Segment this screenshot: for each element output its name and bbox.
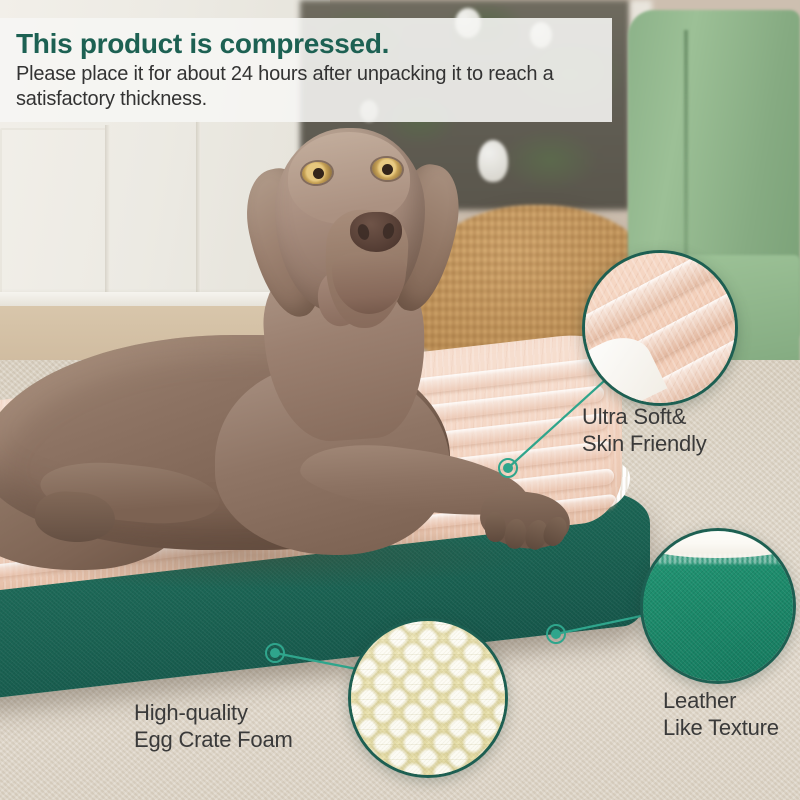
banner-subtext: Please place it for about 24 hours after… bbox=[16, 62, 612, 112]
foam-grain bbox=[351, 621, 505, 775]
callout-inset-egg-crate-foam[interactable] bbox=[348, 618, 508, 778]
compressed-notice-banner: This product is compressed. Please place… bbox=[0, 18, 612, 122]
product-image: Ultra Soft& Skin Friendly High-quality E… bbox=[0, 0, 800, 800]
callout-label-ultra-soft: Ultra Soft& Skin Friendly bbox=[582, 404, 707, 458]
callout-inset-leather-like-texture[interactable] bbox=[640, 528, 796, 684]
connector-marker-dot bbox=[503, 463, 513, 473]
connector-marker-dot bbox=[551, 629, 561, 639]
leather-trim-fuzz bbox=[640, 554, 796, 565]
callout-label-egg-crate-foam: High-quality Egg Crate Foam bbox=[134, 700, 293, 754]
banner-headline: This product is compressed. bbox=[16, 28, 612, 59]
connector-marker-dot bbox=[270, 648, 280, 658]
callout-label-leather-like-texture: Leather Like Texture bbox=[663, 688, 779, 742]
callout-inset-ultra-soft[interactable] bbox=[582, 250, 738, 406]
